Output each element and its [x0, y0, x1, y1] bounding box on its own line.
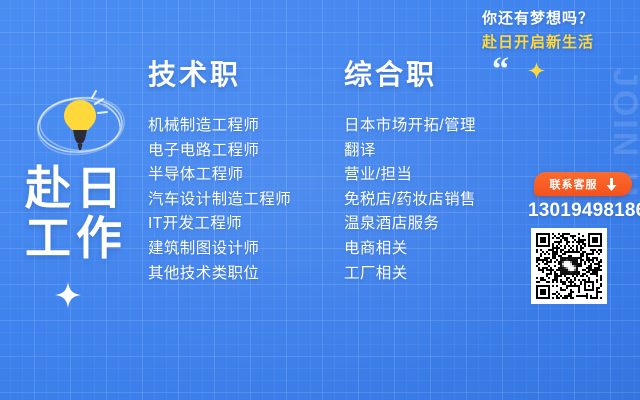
- list-item[interactable]: 其他技术类职位: [148, 262, 291, 287]
- list-item[interactable]: 电商相关: [344, 237, 476, 262]
- job-list-general: 日本市场开拓/管理 翻译 营业/担当 免税店/药妆店销售 温泉酒店服务 电商相关…: [344, 114, 476, 286]
- job-column-general: 综合职 日本市场开拓/管理 翻译 营业/担当 免税店/药妆店销售 温泉酒店服务 …: [344, 58, 476, 286]
- list-item[interactable]: 建筑制图设计师: [148, 237, 291, 262]
- list-item[interactable]: 日本市场开拓/管理: [344, 114, 476, 139]
- slogan-question: 你还有梦想吗？: [482, 9, 594, 29]
- contact-support-button[interactable]: 联系客服: [534, 172, 632, 196]
- slogan-highlight: 赴日开启新生活: [482, 33, 594, 53]
- poster-root: JOIN U 赴日 工作 技术: [0, 0, 640, 400]
- arrow-down-icon: [606, 178, 617, 191]
- brand-title: 赴日 工作: [25, 163, 127, 263]
- column-heading-general: 综合职: [344, 58, 476, 92]
- column-heading-technical: 技术职: [148, 58, 291, 92]
- four-point-star-icon: [528, 62, 545, 79]
- slogan-block: 你还有梦想吗？ 赴日开启新生活: [482, 9, 594, 53]
- list-item[interactable]: 温泉酒店服务: [344, 212, 476, 237]
- job-list-technical: 机械制造工程师 电子电路工程师 半导体工程师 汽车设计制造工程师 IT开发工程师…: [148, 114, 291, 286]
- brand-title-line2: 工作: [25, 213, 127, 263]
- sparkle-star-icon: [55, 282, 81, 308]
- quote-mark-icon: “: [492, 56, 509, 84]
- list-item[interactable]: 机械制造工程师: [148, 114, 291, 139]
- list-item[interactable]: 工厂相关: [344, 262, 476, 287]
- wechat-qr-code[interactable]: [531, 228, 607, 304]
- list-item[interactable]: 半导体工程师: [148, 163, 291, 188]
- brand-title-line1: 赴日: [25, 163, 127, 213]
- lightbulb-icon: [28, 82, 132, 166]
- list-item[interactable]: 电子电路工程师: [148, 139, 291, 164]
- list-item[interactable]: 免税店/药妆店销售: [344, 188, 476, 213]
- list-item[interactable]: 翻译: [344, 139, 476, 164]
- job-column-technical: 技术职 机械制造工程师 电子电路工程师 半导体工程师 汽车设计制造工程师 IT开…: [148, 58, 291, 286]
- list-item[interactable]: IT开发工程师: [148, 212, 291, 237]
- contact-phone-number[interactable]: 13019498186: [528, 200, 640, 222]
- list-item[interactable]: 营业/担当: [344, 163, 476, 188]
- contact-support-label: 联系客服: [550, 176, 598, 192]
- list-item[interactable]: 汽车设计制造工程师: [148, 188, 291, 213]
